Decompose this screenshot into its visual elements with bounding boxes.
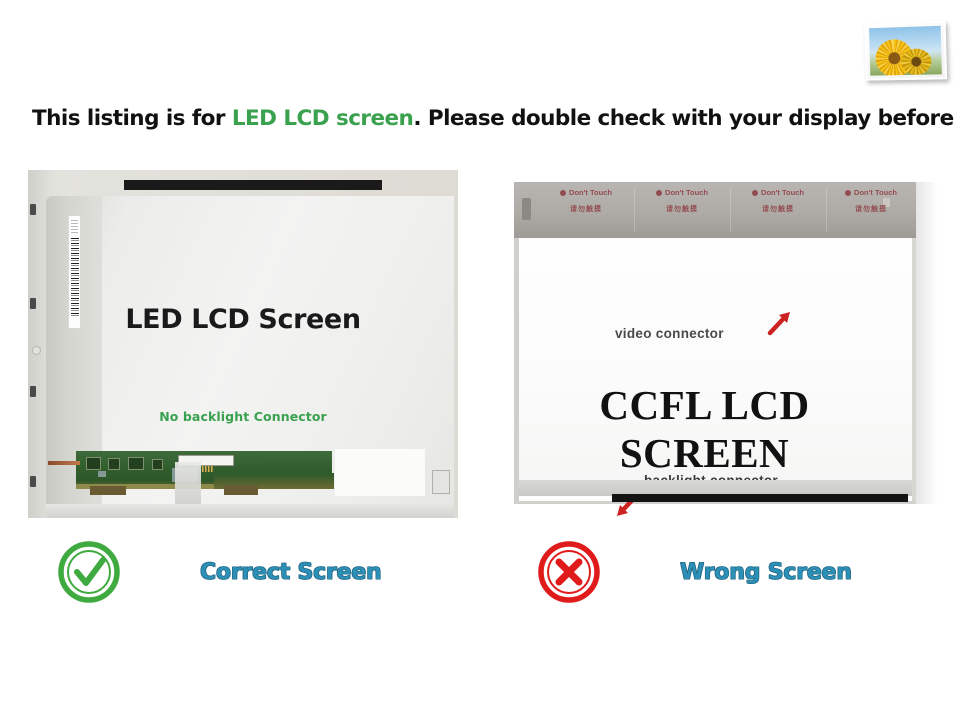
- ccfl-bottom-dark-strip: [612, 494, 908, 502]
- ccfl-left-corner-block: [522, 198, 531, 220]
- led-mount-hole: [32, 346, 41, 355]
- pcb-chip-2: [108, 458, 120, 470]
- headline-text-before: This listing is for: [32, 106, 232, 131]
- led-top-dark-strip: [124, 180, 382, 190]
- led-frame-notch-3: [30, 386, 36, 397]
- warning-dot-icon: [752, 190, 758, 196]
- dont-touch-text-3: Don't Touch: [761, 188, 804, 197]
- dont-touch-cn-2: 请勿触摸: [634, 204, 730, 214]
- pcb-foot-2: [224, 486, 258, 495]
- pcb-pad-2: [98, 471, 106, 477]
- led-right-connector: [432, 470, 450, 494]
- cross-circle-icon: [536, 539, 602, 605]
- ccfl-right-shadow: [916, 182, 938, 504]
- correct-screen-verdict: Correct Screen: [56, 536, 382, 608]
- video-connector-arrow-icon: [767, 310, 793, 336]
- page-headline: This listing is for LED LCD screen. Plea…: [32, 106, 932, 131]
- warning-dot-icon: [845, 190, 851, 196]
- led-screen-subtitle: No backlight Connector: [28, 409, 458, 424]
- brand-logo: [862, 20, 948, 82]
- dont-touch-cn-3: 请勿触摸: [730, 204, 826, 214]
- pcb-chip-1: [86, 457, 101, 470]
- warning-dot-icon: [560, 190, 566, 196]
- check-circle-icon: [56, 539, 122, 605]
- dont-touch-label-4: Don't Touch 请勿触摸: [826, 188, 916, 232]
- pcb-chip-4: [152, 459, 163, 470]
- dont-touch-text-4: Don't Touch: [854, 188, 897, 197]
- sunflower-image: [869, 26, 942, 76]
- correct-screen-label: Correct Screen: [200, 560, 382, 585]
- sunflower-bloom-small: [901, 48, 932, 75]
- led-bottom-edge: [46, 504, 454, 518]
- ccfl-screen-photo: Don't Touch 请勿触摸 Don't Touch 请勿触摸 Don't …: [508, 170, 938, 518]
- wrong-screen-verdict: Wrong Screen: [536, 536, 852, 608]
- ccfl-top-label-bar: Don't Touch 请勿触摸 Don't Touch 请勿触摸 Don't …: [514, 182, 916, 238]
- led-white-patch: [335, 449, 425, 496]
- warning-dot-icon: [656, 190, 662, 196]
- dont-touch-text-1: Don't Touch: [569, 188, 612, 197]
- headline-highlight: LED LCD screen: [232, 106, 413, 131]
- video-connector-annotation: video connector: [615, 326, 724, 341]
- led-screen-panel: LED LCD Screen No backlight Connector: [28, 170, 458, 518]
- led-pcb-tape: [175, 462, 201, 504]
- ccfl-screen-title: CCFL LCD SCREEN: [519, 381, 890, 477]
- led-pcb-cable: [48, 461, 80, 465]
- led-frame-notch-4: [30, 476, 36, 487]
- led-screen-title: LED LCD Screen: [28, 304, 458, 335]
- led-frame-notch-1: [30, 204, 36, 215]
- led-screen-photo: LED LCD Screen No backlight Connector: [28, 170, 458, 518]
- headline-text-after: . Please double check with your display …: [413, 106, 960, 131]
- dont-touch-text-2: Don't Touch: [665, 188, 708, 197]
- dont-touch-label-3: Don't Touch 请勿触摸: [730, 188, 827, 232]
- pcb-foot-1: [90, 486, 126, 495]
- dont-touch-label-2: Don't Touch 请勿触摸: [634, 188, 731, 232]
- dont-touch-label-1: Don't Touch 请勿触摸: [538, 188, 635, 232]
- dont-touch-cn-4: 请勿触摸: [826, 204, 916, 214]
- wrong-screen-label: Wrong Screen: [680, 560, 852, 585]
- dont-touch-cn-1: 请勿触摸: [538, 204, 634, 214]
- laptop-screen-shape: [864, 21, 947, 81]
- pcb-chip-3: [128, 457, 144, 470]
- ccfl-screen-panel: Don't Touch 请勿触摸 Don't Touch 请勿触摸 Don't …: [508, 170, 938, 518]
- ccfl-display-surface: video connector CCFL LCD SCREEN backligh…: [519, 238, 912, 482]
